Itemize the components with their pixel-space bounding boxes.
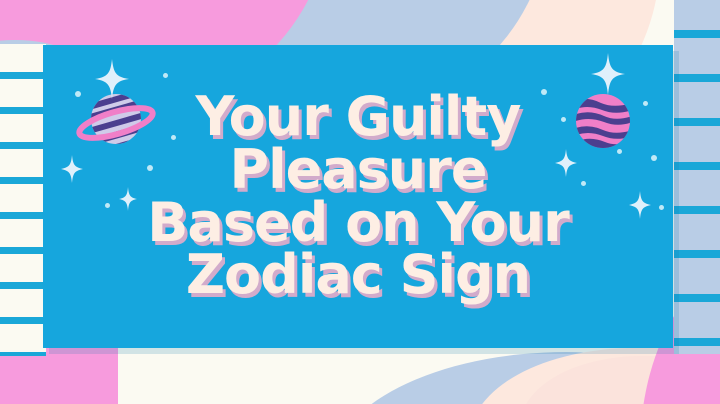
headline-line-1: Your Guilty [196, 91, 521, 144]
headline-line-4: Zodiac Sign [186, 249, 530, 302]
stripe-panel-right [674, 0, 720, 354]
headline-text-block: Your Guilty Pleasure Based on Your Zodia… [43, 45, 673, 348]
stripe-panel-right-cap [674, 0, 720, 14]
headline-line-2: Pleasure [230, 144, 487, 197]
stripe-panel-left [0, 44, 46, 356]
headline-line-3: Based on Your [147, 197, 568, 250]
poster-canvas: Your Guilty Pleasure Based on Your Zodia… [0, 0, 720, 404]
